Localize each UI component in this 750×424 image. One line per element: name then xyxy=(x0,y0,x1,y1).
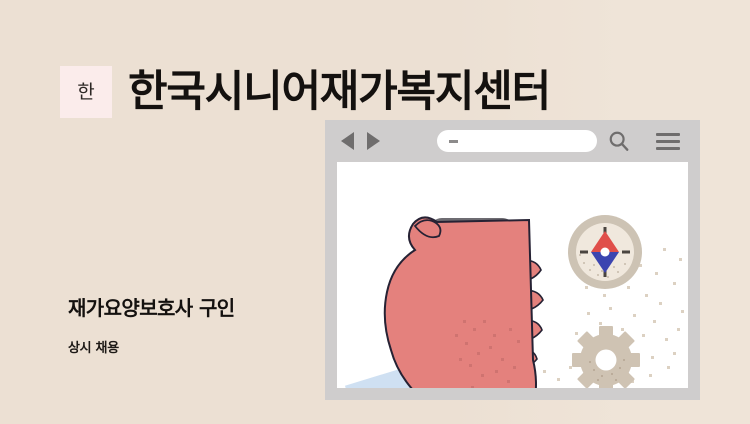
brand-badge: 한 xyxy=(60,66,112,118)
browser-content-area xyxy=(337,162,688,388)
hand-holding-phone-illustration xyxy=(345,200,575,388)
hand-foreground xyxy=(345,200,575,388)
menu-line-1 xyxy=(656,133,680,136)
address-bar[interactable] xyxy=(437,130,597,152)
menu-line-3 xyxy=(656,147,680,150)
recruitment-headline: 재가요양보호사 구인 xyxy=(68,296,235,320)
brand-header: 한 한국시니어재가복지센터 xyxy=(60,66,550,118)
triangle-left-icon[interactable] xyxy=(341,132,354,150)
poster-canvas: 한 한국시니어재가복지센터 재가요양보호사 구인 상시 채용 xyxy=(0,0,750,424)
magnifier-icon[interactable] xyxy=(608,130,630,152)
text-cursor xyxy=(449,140,458,143)
browser-toolbar xyxy=(325,120,700,162)
menu-line-2 xyxy=(656,140,680,143)
recruitment-copy: 재가요양보호사 구인 상시 채용 xyxy=(68,296,235,356)
gear-icon xyxy=(571,325,641,388)
hamburger-menu-icon[interactable] xyxy=(656,133,680,150)
recruitment-subline: 상시 채용 xyxy=(68,337,235,356)
browser-window xyxy=(325,120,700,400)
triangle-right-icon[interactable] xyxy=(367,132,380,150)
page-title: 한국시니어재가복지센터 xyxy=(128,71,550,114)
compass-icon xyxy=(567,214,643,290)
browser-nav-arrows xyxy=(341,132,380,150)
